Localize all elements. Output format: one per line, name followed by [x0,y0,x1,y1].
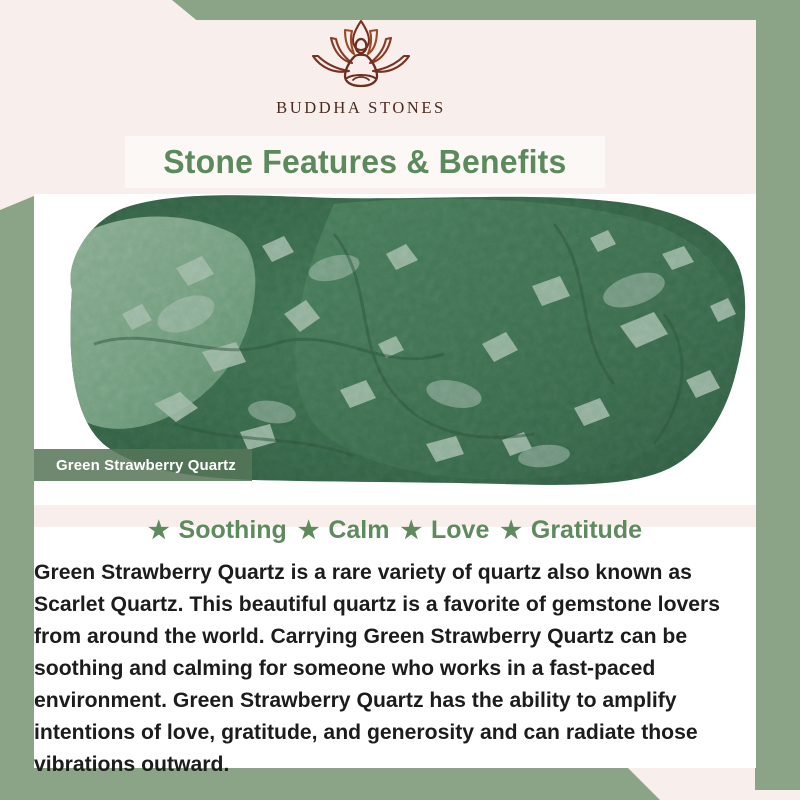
keyword-soothing: ★ Soothing [148,516,287,545]
stone-photo-image [34,194,756,486]
title-banner: Stone Features & Benefits [125,136,605,188]
stone-photo: Green Strawberry Quartz [34,194,756,486]
keyword-label: Soothing [179,516,287,545]
keyword-calm: ★ Calm [298,516,390,545]
lotus-meditation-icon [307,16,415,94]
star-icon: ★ [298,519,320,543]
keyword-gratitude: ★ Gratitude [500,516,642,545]
keyword-label: Calm [328,516,389,545]
description-text: Green Strawberry Quartz is a rare variet… [34,556,769,780]
brand-wordmark: BUDDHA STONES [276,98,446,118]
keyword-label: Gratitude [531,516,642,545]
star-icon: ★ [148,519,170,543]
star-icon: ★ [500,519,522,543]
benefit-keyword-row: ★ Soothing ★ Calm ★ Love ★ Gratitude [34,516,756,545]
brand-logo: BUDDHA STONES [0,16,722,118]
page-title: Stone Features & Benefits [163,143,566,181]
photo-caption-text: Green Strawberry Quartz [56,457,236,474]
keyword-label: Love [431,516,489,545]
decor-band-left [0,196,34,800]
photo-caption-badge: Green Strawberry Quartz [34,449,252,481]
keyword-love: ★ Love [400,516,489,545]
star-icon: ★ [400,519,422,543]
poster-root: BUDDHA STONES Stone Features & Benefits [0,0,800,800]
